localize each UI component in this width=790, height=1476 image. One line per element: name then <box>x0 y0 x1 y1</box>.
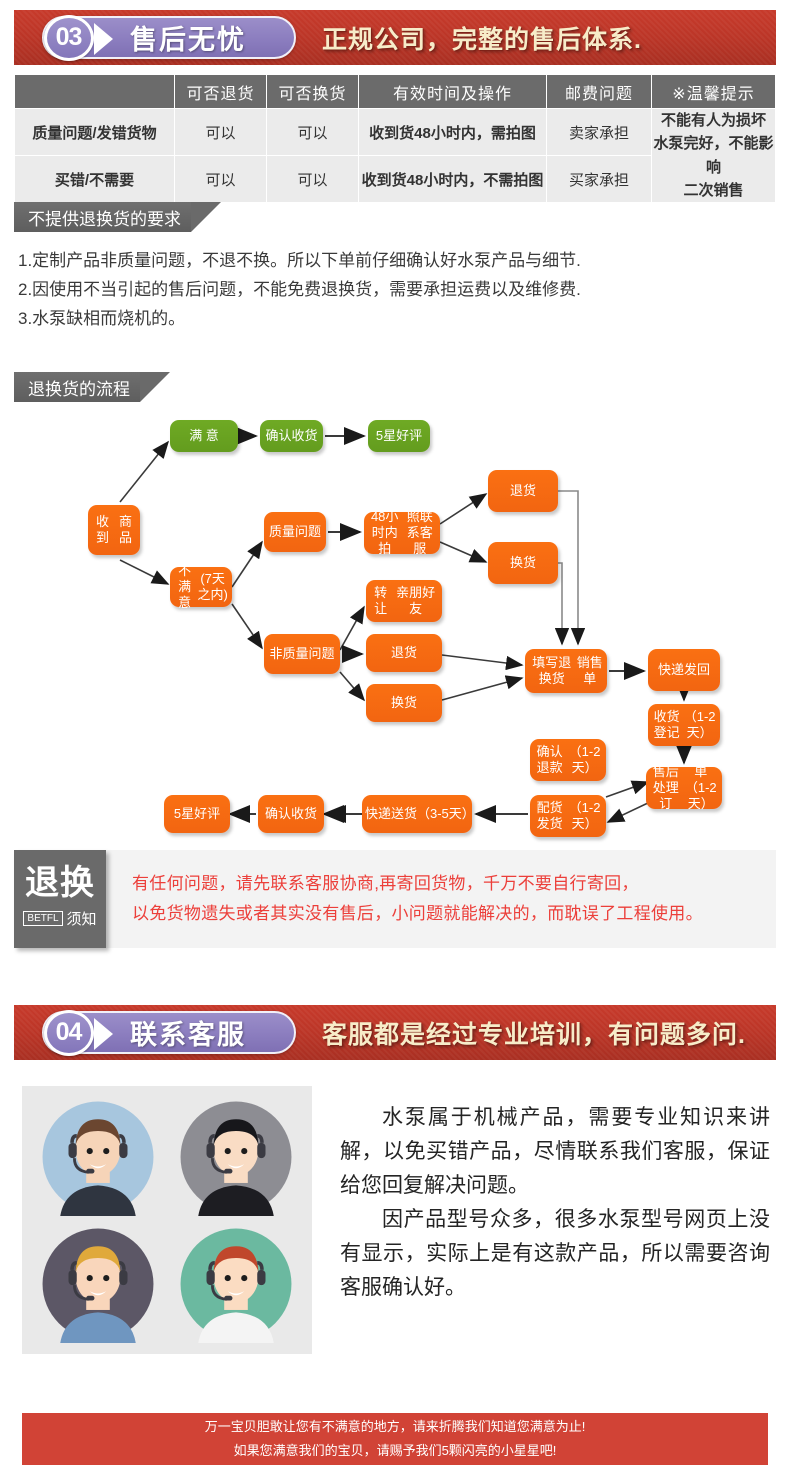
flow-node-n11: 转让亲朋好友 <box>366 580 442 622</box>
section-number-badge: 03 <box>40 13 97 62</box>
no-return-item-1: 1.定制产品非质量问题，不退不换。所以下单前仔细确认好水泵产品与细节. <box>18 246 581 275</box>
flow-heading: 退换货的流程 <box>14 372 140 402</box>
section-pill-04: 04 联系客服 <box>42 1011 296 1054</box>
no-return-heading: 不提供退换货的要求 <box>14 202 191 232</box>
flow-node-n16: 收货登记（1-2天） <box>648 704 720 746</box>
flow-node-n1: 收到商品 <box>88 505 140 555</box>
row1-time-action: 收到货48小时内，需拍图 <box>359 109 547 156</box>
tip-line-1: 不能有人为损坏 <box>652 109 775 132</box>
customer-service-description: 水泵属于机械产品，需要专业知识来讲解，以免买错产品，尽情联系我们客服，保证给您回… <box>340 1100 770 1304</box>
return-notice-box: 退换 BETFL 须知 有任何问题，请先联系客服协商,再寄回货物，千万不要自行寄… <box>14 850 776 948</box>
flow-node-n14: 填写退换货销售单 <box>525 649 607 693</box>
row1-label: 质量问题/发错货物 <box>15 109 175 156</box>
badge-subtitle: 须知 <box>67 908 97 929</box>
section-banner-03: 03 售后无忧 正规公司，完整的售后体系. <box>14 10 776 65</box>
badge-title: 退换 <box>14 850 106 900</box>
th-can-return: 可否退货 <box>175 75 267 109</box>
tip-line-2: 水泵完好，不能影响 <box>652 132 775 179</box>
agent-female-blonde-avatar <box>32 1223 164 1344</box>
row2-label: 买错/不需要 <box>15 156 175 203</box>
th-can-exchange: 可否换货 <box>267 75 359 109</box>
no-return-item-3: 3.水泵缺相而烧机的。 <box>18 304 581 333</box>
th-blank <box>15 75 175 109</box>
chevron-right-icon <box>94 23 113 55</box>
section-banner-04: 04 联系客服 客服都是经过专业培训，有问题多问. <box>14 1005 776 1060</box>
flow-node-n7: 48小时内拍照联系客服 <box>364 512 440 554</box>
section-pill-label-03: 售后无忧 <box>130 18 268 57</box>
flow-node-n18: 确认退款（1-2天） <box>530 739 606 781</box>
agent-female-hijab-avatar <box>170 1096 302 1217</box>
flow-node-n19: 配货发货（1-2天） <box>530 795 606 837</box>
agent-male-redhair-avatar <box>170 1223 302 1344</box>
flow-node-n5: 不满意(7天之内) <box>170 567 232 607</box>
service-paragraph-1: 水泵属于机械产品，需要专业知识来讲解，以免买错产品，尽情联系我们客服，保证给您回… <box>340 1100 770 1202</box>
return-process-flowchart: 收到商品满 意确认收货5星好评不满意(7天之内)质量问题48小时内拍照联系客服退… <box>0 412 790 837</box>
row2-time-action: 收到货48小时内，不需拍图 <box>359 156 547 203</box>
flow-node-n4: 5星好评 <box>368 420 430 452</box>
footer-line-1: 万一宝贝胆敢让您有不满意的地方，请来折腾我们知道您满意为止! <box>205 1415 586 1439</box>
flow-node-n20: 快递送货（3-5天） <box>362 795 472 833</box>
flow-node-n17: 售后处理订单（1-2天） <box>646 767 722 809</box>
policy-table: 可否退货 可否换货 有效时间及操作 邮费问题 ※温馨提示 质量问题/发错货物 可… <box>14 74 776 203</box>
row1-can-exchange: 可以 <box>267 109 359 156</box>
section-number-04: 04 <box>44 1010 94 1056</box>
th-tips: ※温馨提示 <box>652 75 776 109</box>
notice-line-2: 以免货物遗失或者其实没有售后，小问题就能解决的，而耽误了工程使用。 <box>132 899 776 929</box>
section-tagline-03: 正规公司，完整的售后体系. <box>322 20 642 56</box>
row2-can-exchange: 可以 <box>267 156 359 203</box>
return-notice-badge: 退换 BETFL 须知 <box>14 850 106 948</box>
flow-node-n10: 非质量问题 <box>264 634 340 674</box>
table-header-row: 可否退货 可否换货 有效时间及操作 邮费问题 ※温馨提示 <box>15 75 776 109</box>
flow-node-n8: 退货 <box>488 470 558 512</box>
section-number-badge: 04 <box>40 1008 97 1057</box>
flow-node-n6: 质量问题 <box>264 512 326 552</box>
warm-tips-cell: 不能有人为损坏 水泵完好，不能影响 二次销售 <box>652 109 776 203</box>
flow-node-n15: 快递发回 <box>648 649 720 691</box>
badge-brand: BETFL <box>23 911 62 926</box>
customer-service-avatars <box>22 1086 312 1354</box>
flow-node-n22: 5星好评 <box>164 795 230 833</box>
no-return-list: 1.定制产品非质量问题，不退不换。所以下单前仔细确认好水泵产品与细节. 2.因使… <box>18 246 581 334</box>
row2-shipping: 买家承担 <box>547 156 652 203</box>
chevron-right-icon <box>94 1018 113 1050</box>
footer-line-2: 如果您满意我们的宝贝，请赐予我们5颗闪亮的小星星吧! <box>234 1439 557 1463</box>
badge-subrow: BETFL 须知 <box>14 908 106 929</box>
section-pill-03: 03 售后无忧 <box>42 16 296 59</box>
th-shipping: 邮费问题 <box>547 75 652 109</box>
table-row: 质量问题/发错货物 可以 可以 收到货48小时内，需拍图 卖家承担 不能有人为损… <box>15 109 776 156</box>
service-paragraph-2: 因产品型号众多，很多水泵型号网页上没有显示，实际上是有这款产品，所以需要咨询客服… <box>340 1202 770 1304</box>
flow-node-n21: 确认收货 <box>258 795 324 833</box>
row1-shipping: 卖家承担 <box>547 109 652 156</box>
section-pill-label-04: 联系客服 <box>130 1013 268 1052</box>
flow-node-n12: 退货 <box>366 634 442 672</box>
agent-male-beard-avatar <box>32 1096 164 1217</box>
footer-banner: 万一宝贝胆敢让您有不满意的地方，请来折腾我们知道您满意为止! 如果您满意我们的宝… <box>22 1413 768 1465</box>
no-return-item-2: 2.因使用不当引起的售后问题，不能免费退换货，需要承担运费以及维修费. <box>18 275 581 304</box>
return-notice-text: 有任何问题，请先联系客服协商,再寄回货物，千万不要自行寄回， 以免货物遗失或者其… <box>106 850 776 948</box>
notice-line-1: 有任何问题，请先联系客服协商,再寄回货物，千万不要自行寄回， <box>132 869 776 899</box>
tip-line-3: 二次销售 <box>652 179 775 202</box>
section-number-03: 03 <box>44 15 94 61</box>
flow-node-n3: 确认收货 <box>260 420 323 452</box>
th-time-action: 有效时间及操作 <box>359 75 547 109</box>
flow-node-n9: 换货 <box>488 542 558 584</box>
flow-node-n2: 满 意 <box>170 420 238 452</box>
section-tagline-04: 客服都是经过专业培训，有问题多问. <box>322 1015 746 1051</box>
row2-can-return: 可以 <box>175 156 267 203</box>
row1-can-return: 可以 <box>175 109 267 156</box>
flow-node-n13: 换货 <box>366 684 442 722</box>
